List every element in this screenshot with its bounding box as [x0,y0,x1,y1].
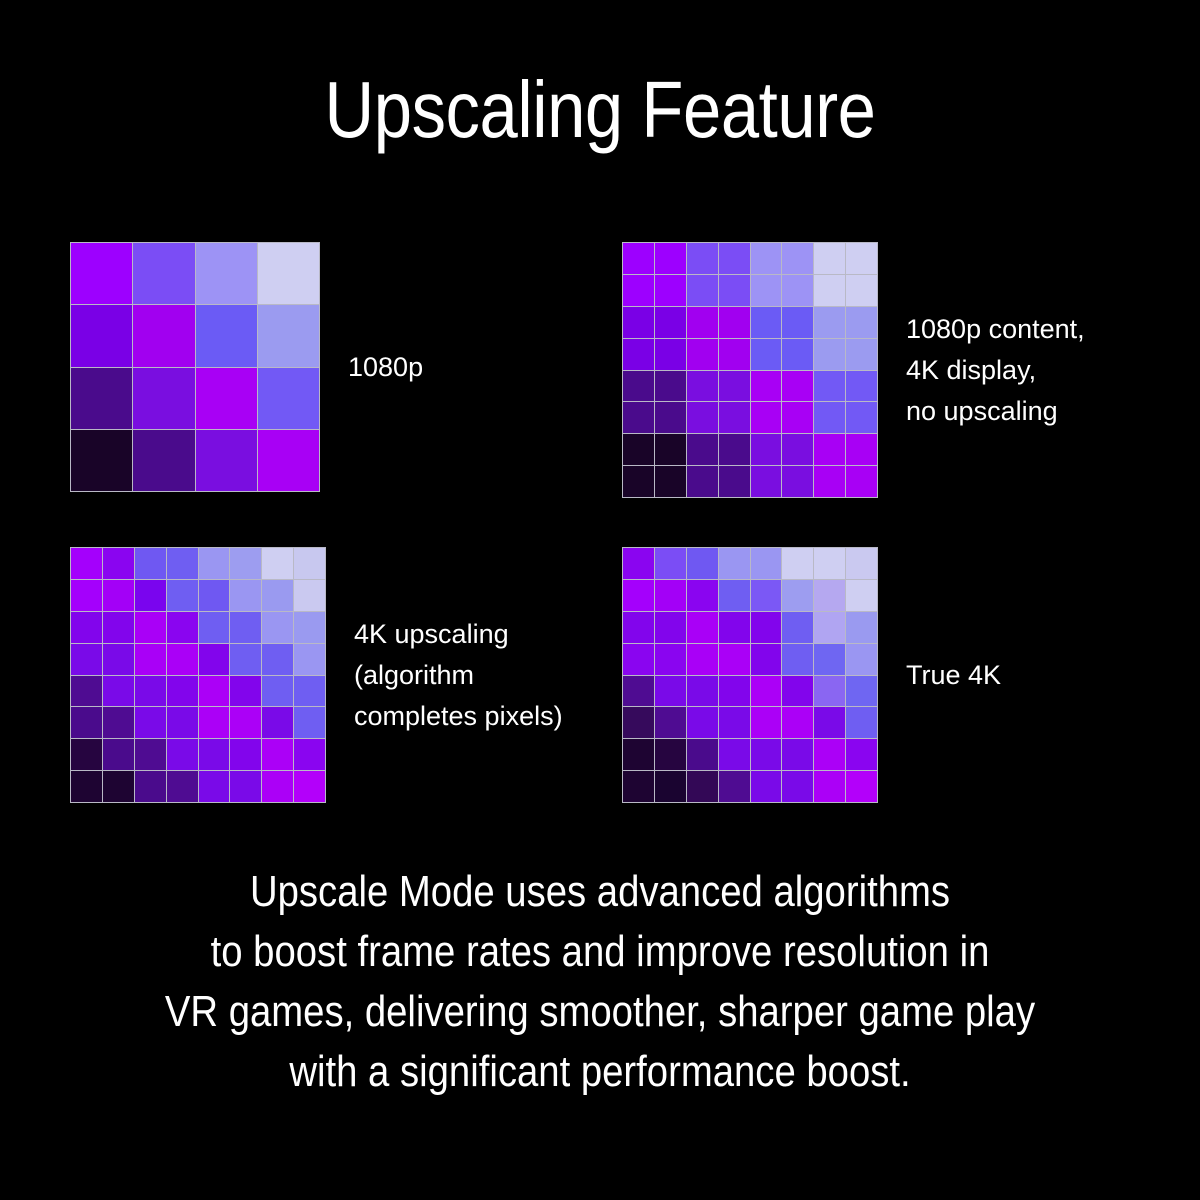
pixel-cell [751,644,782,675]
pixel-cell [846,612,877,643]
pixel-cell [782,307,813,338]
pixel-cell [655,548,686,579]
pixel-cell [135,548,166,579]
pixel-cell [846,243,877,274]
pixel-cell [655,402,686,433]
pixel-cell [719,644,750,675]
pixel-cell [294,739,325,770]
pixel-grid-no-upscaling [622,242,878,498]
pixel-cell [782,580,813,611]
pixel-cell [782,612,813,643]
pixel-cell [782,466,813,497]
pixel-cell [655,771,686,802]
pixel-cell [814,243,845,274]
pixel-cell [687,612,718,643]
pixel-cell [167,676,198,707]
pixel-cell [687,243,718,274]
pixel-cell [230,676,261,707]
pixel-cell [230,644,261,675]
pixel-cell [167,771,198,802]
pixel-cell [167,644,198,675]
pixel-cell [294,644,325,675]
caption-text: Upscale Mode uses advanced algorithms to… [78,862,1122,1102]
pixel-cell [262,739,293,770]
pixel-cell [623,644,654,675]
pixel-cell [196,368,257,429]
pixel-cell [655,580,686,611]
pixel-cell [167,580,198,611]
pixel-cell [782,548,813,579]
pixel-cell [230,548,261,579]
pixel-cell [687,771,718,802]
pixel-cell [294,676,325,707]
pixel-cell [294,580,325,611]
pixel-cell [751,466,782,497]
pixel-cell [103,739,134,770]
pixel-cell [751,739,782,770]
pixel-cell [71,707,102,738]
pixel-cell [655,434,686,465]
pixel-cell [71,580,102,611]
pixel-cell [751,580,782,611]
pixel-cell [719,339,750,370]
pixel-cell [623,243,654,274]
pixel-cell [103,771,134,802]
pixel-cell [103,580,134,611]
pixel-cell [655,339,686,370]
pixel-cell [294,548,325,579]
pixel-cell [655,707,686,738]
pixel-cell [814,402,845,433]
panel-label-4k-upscaling: 4K upscaling (algorithm completes pixels… [354,614,563,737]
pixel-grid-4k-upscaling [70,547,326,803]
pixel-cell [814,371,845,402]
pixel-cell [623,707,654,738]
pixel-cell [623,275,654,306]
pixel-cell [199,612,230,643]
pixel-cell [655,371,686,402]
panel-label-1080p: 1080p [348,347,423,388]
pixel-cell [719,434,750,465]
pixel-cell [719,466,750,497]
pixel-cell [814,676,845,707]
pixel-cell [814,339,845,370]
pixel-cell [103,644,134,675]
pixel-cell [719,771,750,802]
pixel-cell [71,243,132,304]
pixel-cell [294,771,325,802]
pixel-cell [135,612,166,643]
pixel-cell [751,339,782,370]
pixel-cell [782,644,813,675]
pixel-cell [135,644,166,675]
pixel-cell [687,580,718,611]
pixel-cell [623,676,654,707]
pixel-cell [623,371,654,402]
pixel-cell [814,275,845,306]
pixel-cell [687,339,718,370]
pixel-cell [782,275,813,306]
pixel-cell [623,612,654,643]
pixel-cell [133,243,194,304]
pixel-cell [103,676,134,707]
panel-label-no-upscaling: 1080p content, 4K display, no upscaling [906,309,1085,432]
pixel-cell [230,739,261,770]
pixel-cell [199,644,230,675]
pixel-cell [687,307,718,338]
pixel-cell [262,548,293,579]
pixel-cell [262,644,293,675]
pixel-cell [655,644,686,675]
pixel-cell [814,739,845,770]
pixel-cell [751,275,782,306]
pixel-cell [782,771,813,802]
pixel-cell [135,739,166,770]
pixel-cell [655,243,686,274]
pixel-cell [71,305,132,366]
pixel-cell [71,368,132,429]
pixel-cell [719,739,750,770]
pixel-cell [655,275,686,306]
pixel-cell [623,434,654,465]
pixel-cell [846,676,877,707]
pixel-cell [167,612,198,643]
pixel-cell [846,644,877,675]
pixel-cell [71,430,132,491]
pixel-cell [623,771,654,802]
pixel-cell [846,275,877,306]
pixel-cell [623,307,654,338]
pixel-cell [782,371,813,402]
panel-true-4k: True 4K [622,547,1001,803]
pixel-cell [846,739,877,770]
pixel-cell [719,243,750,274]
pixel-cell [71,676,102,707]
pixel-cell [230,771,261,802]
pixel-cell [846,434,877,465]
pixel-cell [258,305,319,366]
pixel-cell [719,307,750,338]
pixel-cell [751,434,782,465]
pixel-cell [623,402,654,433]
pixel-cell [846,339,877,370]
pixel-cell [719,371,750,402]
pixel-cell [196,243,257,304]
pixel-cell [782,402,813,433]
pixel-cell [71,548,102,579]
pixel-cell [655,466,686,497]
pixel-cell [846,548,877,579]
pixel-cell [782,339,813,370]
pixel-cell [623,580,654,611]
pixel-cell [751,307,782,338]
pixel-cell [258,243,319,304]
pixel-cell [294,612,325,643]
pixel-cell [196,430,257,491]
pixel-cell [751,371,782,402]
pixel-cell [751,402,782,433]
pixel-cell [71,739,102,770]
pixel-grid-true-4k [622,547,878,803]
pixel-cell [687,548,718,579]
pixel-cell [814,548,845,579]
panel-no-upscaling: 1080p content, 4K display, no upscaling [622,242,1085,498]
pixel-cell [262,771,293,802]
pixel-cell [719,707,750,738]
pixel-cell [751,771,782,802]
pixel-cell [751,612,782,643]
pixel-cell [687,676,718,707]
pixel-cell [846,580,877,611]
pixel-cell [687,275,718,306]
pixel-cell [782,739,813,770]
pixel-cell [103,707,134,738]
pixel-cell [258,430,319,491]
pixel-cell [230,707,261,738]
pixel-cell [814,644,845,675]
pixel-cell [230,612,261,643]
page-title: Upscaling Feature [84,62,1116,158]
pixel-cell [719,580,750,611]
pixel-cell [103,548,134,579]
pixel-cell [655,307,686,338]
pixel-cell [623,739,654,770]
pixel-cell [262,612,293,643]
pixel-cell [846,771,877,802]
pixel-cell [199,739,230,770]
pixel-cell [687,371,718,402]
pixel-cell [199,771,230,802]
pixel-cell [135,580,166,611]
pixel-cell [71,644,102,675]
pixel-cell [135,771,166,802]
pixel-cell [814,612,845,643]
pixel-cell [135,707,166,738]
pixel-cell [751,676,782,707]
slide-root: Upscaling Feature 1080p 1080p content, 4… [0,0,1200,1200]
pixel-cell [687,707,718,738]
pixel-cell [814,707,845,738]
pixel-cell [262,707,293,738]
pixel-cell [751,707,782,738]
pixel-cell [655,612,686,643]
pixel-cell [71,612,102,643]
pixel-cell [623,466,654,497]
pixel-cell [199,676,230,707]
pixel-cell [167,707,198,738]
pixel-cell [167,548,198,579]
pixel-cell [719,676,750,707]
pixel-cell [814,307,845,338]
pixel-cell [719,275,750,306]
pixel-cell [230,580,261,611]
pixel-cell [751,548,782,579]
pixel-cell [199,580,230,611]
pixel-cell [623,339,654,370]
pixel-cell [135,676,166,707]
pixel-cell [133,430,194,491]
pixel-cell [655,676,686,707]
pixel-cell [655,739,686,770]
pixel-cell [623,548,654,579]
pixel-cell [846,307,877,338]
pixel-cell [687,466,718,497]
pixel-cell [751,243,782,274]
pixel-cell [814,771,845,802]
pixel-cell [103,612,134,643]
pixel-cell [258,368,319,429]
panel-1080p: 1080p [70,242,423,492]
pixel-cell [167,739,198,770]
pixel-cell [782,434,813,465]
pixel-cell [846,466,877,497]
pixel-cell [782,676,813,707]
pixel-cell [719,402,750,433]
pixel-cell [687,434,718,465]
pixel-cell [294,707,325,738]
pixel-cell [71,771,102,802]
pixel-cell [719,548,750,579]
panel-label-true-4k: True 4K [906,655,1001,696]
pixel-cell [782,707,813,738]
pixel-cell [262,580,293,611]
pixel-cell [846,371,877,402]
pixel-cell [814,434,845,465]
pixel-cell [687,739,718,770]
pixel-cell [133,368,194,429]
panel-4k-upscaling: 4K upscaling (algorithm completes pixels… [70,547,563,803]
pixel-cell [814,580,845,611]
pixel-cell [687,644,718,675]
pixel-cell [199,707,230,738]
pixel-cell [719,612,750,643]
pixel-cell [262,676,293,707]
pixel-cell [133,305,194,366]
pixel-cell [687,402,718,433]
pixel-cell [199,548,230,579]
pixel-grid-1080p [70,242,320,492]
pixel-cell [814,466,845,497]
pixel-cell [846,707,877,738]
pixel-cell [196,305,257,366]
pixel-cell [846,402,877,433]
pixel-cell [782,243,813,274]
